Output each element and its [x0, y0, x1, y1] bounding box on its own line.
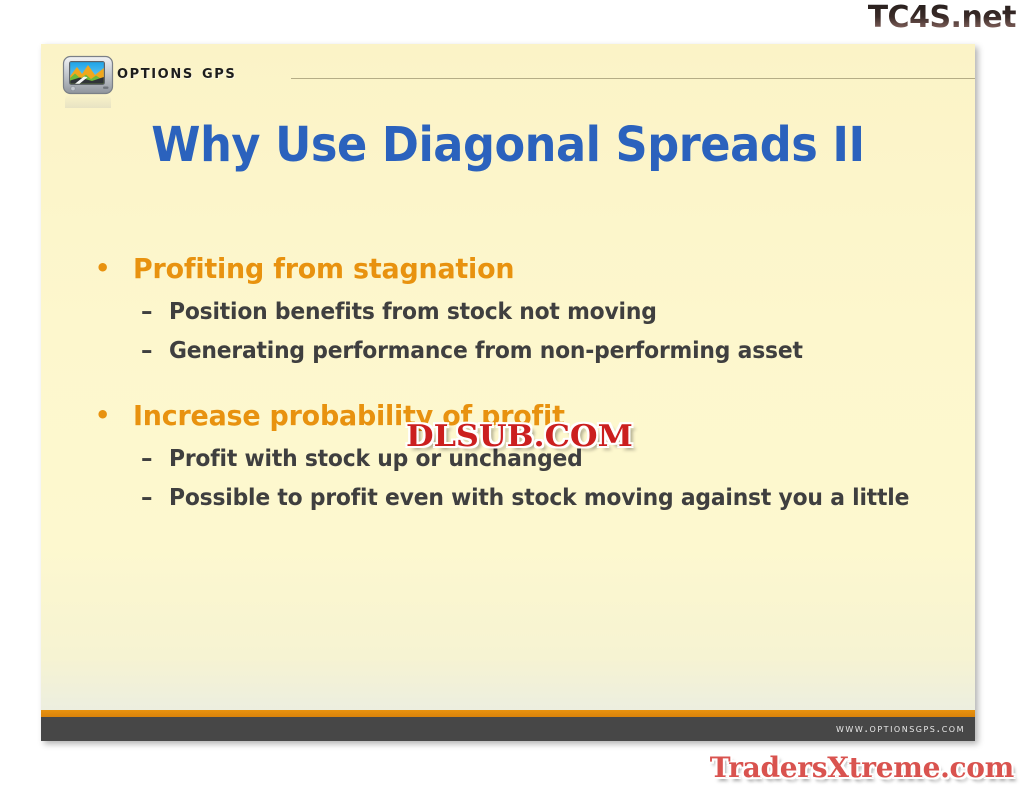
bullet-label: Profiting from stagnation [133, 252, 514, 286]
bullet-marker-icon: • [95, 399, 133, 431]
bullet-group: • Profiting from stagnation – Position b… [95, 252, 957, 365]
bullet-marker-icon: • [95, 252, 133, 284]
slide-footer: www.OptionsGPS.com [41, 717, 975, 741]
dash-marker-icon: – [141, 298, 169, 326]
dash-marker-icon: – [141, 445, 169, 473]
brand-name: Options GPS [117, 61, 236, 83]
sub-bullet-label: Possible to profit even with stock movin… [169, 484, 909, 512]
page-title: Why Use Diagonal Spreads II [74, 117, 943, 173]
bullet-group: • Increase probability of profit – Profi… [95, 399, 957, 512]
sub-bullet-item: – Position benefits from stock not movin… [95, 298, 957, 326]
bullet-item: • Profiting from stagnation [95, 252, 957, 286]
header-divider [291, 78, 975, 79]
slide-body: • Profiting from stagnation – Position b… [95, 252, 957, 513]
sub-bullet-item: – Generating performance from non-perfor… [95, 337, 957, 365]
dash-marker-icon: – [141, 484, 169, 512]
tradersxtreme-watermark: TradersXtreme.com [710, 751, 1014, 784]
slide-header: Options GPS [41, 44, 975, 106]
gps-device-icon [62, 55, 114, 95]
sub-bullet-label: Position benefits from stock not moving [169, 298, 657, 326]
logo-reflection [65, 94, 111, 108]
sub-bullet-item: – Possible to profit even with stock mov… [95, 484, 957, 512]
presentation-slide: Options GPS Why Use Diagonal Spreads II … [41, 44, 975, 741]
footer-url-label: www.OptionsGPS.com [836, 721, 965, 735]
dash-marker-icon: – [141, 337, 169, 365]
footer-accent-bar [41, 710, 975, 717]
dlsub-watermark: DLSUB.COM [406, 419, 633, 454]
tc4s-site-watermark: TC4S.net [868, 1, 1016, 36]
sub-bullet-label: Generating performance from non-performi… [169, 337, 803, 365]
